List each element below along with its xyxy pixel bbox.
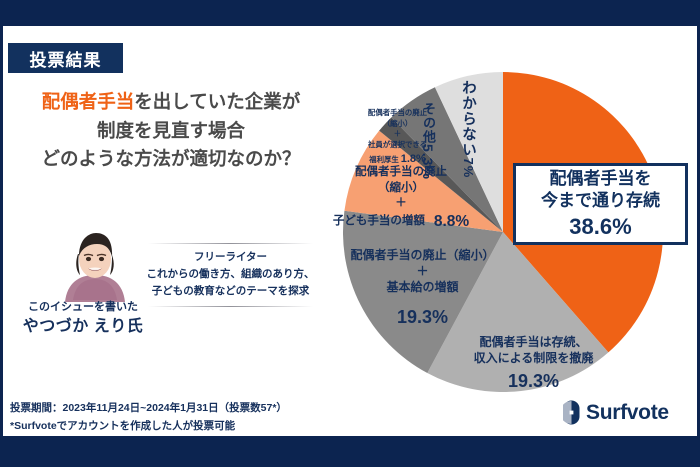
- result-badge-label: 投票結果: [30, 46, 102, 71]
- slice-label-base-salary: 配偶者手当の廃止（縮小） ＋ 基本給の増額 19.3%: [330, 247, 515, 329]
- page-title: 配偶者手当を出していた企業が 制度を見直す場合 どのような方法が適切なのか？: [6, 88, 336, 174]
- author-credit: このイシューを書いた やつづか えり氏: [8, 300, 158, 339]
- dk-percent: 7%: [461, 158, 476, 179]
- bio-line-3: 子どもの教育などのテーマを探求: [128, 283, 333, 300]
- author-credit-prefix: このイシューを書いた: [8, 300, 158, 315]
- child-plus: ＋: [326, 196, 476, 212]
- voting-eligibility-note: *Surfvoteでアカウントを作成した人が投票可能: [10, 417, 410, 435]
- author-bio: フリーライター これからの働き方、組織のあり方、 子どもの教育などのテーマを探求: [128, 243, 333, 307]
- income-percent: 19.3%: [441, 369, 626, 393]
- bio-line-2: これからの働き方、組織のあり方、: [128, 266, 333, 283]
- child-line-3: 子ども手当の増額: [333, 214, 425, 230]
- callout-line-1: 配偶者手当を: [550, 168, 652, 190]
- base-percent: 19.3%: [330, 305, 515, 329]
- bio-rule-top: [148, 243, 313, 244]
- result-badge: 投票結果: [8, 43, 123, 73]
- bio-rule-bottom: [148, 306, 313, 307]
- income-line-2: 収入による制限を撤廃: [441, 350, 626, 366]
- base-line-2: 基本給の増額: [330, 279, 515, 295]
- bio-line-1: フリーライター: [128, 249, 333, 266]
- callout-value: 38.6%: [569, 214, 631, 240]
- other-text: その他: [421, 102, 436, 144]
- infographic-page: 投票結果 配偶者手当を出していた企業が 制度を見直す場合 どのような方法が適切な…: [0, 0, 700, 467]
- child-line-1: 配偶者手当の廃止: [326, 165, 476, 181]
- other-percent: 5.3%: [420, 144, 436, 180]
- author-name: やつづか えり氏: [8, 315, 158, 338]
- headline-line2: 制度を見直す場合: [6, 117, 336, 146]
- headline-highlight: 配偶者手当: [42, 91, 135, 112]
- top-navy-bar: [0, 0, 700, 26]
- bottom-navy-bar: [0, 436, 700, 467]
- headline-line3: どのような方法が適切なのか？: [6, 145, 336, 174]
- highlight-callout: 配偶者手当を 今まで通り存続 38.6%: [513, 163, 688, 245]
- child-line-2: （縮小）: [326, 181, 476, 197]
- left-edge-bar: [0, 26, 3, 436]
- child-percent: 8.8%: [434, 212, 469, 233]
- slice-label-income-limit: 配偶者手当は存続、 収入による制限を撤廃 19.3%: [441, 334, 626, 394]
- author-photo: [57, 226, 133, 302]
- slice-label-dont-know: わからない7%: [458, 80, 480, 178]
- dk-text: わからない: [460, 80, 476, 158]
- base-plus: ＋: [330, 263, 515, 279]
- slice-label-child-allowance: 配偶者手当の廃止 （縮小） ＋ 子ども手当の増額8.8%: [326, 165, 476, 232]
- income-line-1: 配偶者手当は存続、: [441, 334, 626, 350]
- headline-line1-rest: を出していた企業が: [134, 91, 300, 112]
- welfare-line-4: 福利厚生: [369, 155, 399, 164]
- callout-line-2: 今まで通り存続: [541, 190, 660, 212]
- slice-label-other: その他5.3%: [419, 102, 441, 180]
- base-line-1: 配偶者手当の廃止（縮小）: [330, 247, 515, 263]
